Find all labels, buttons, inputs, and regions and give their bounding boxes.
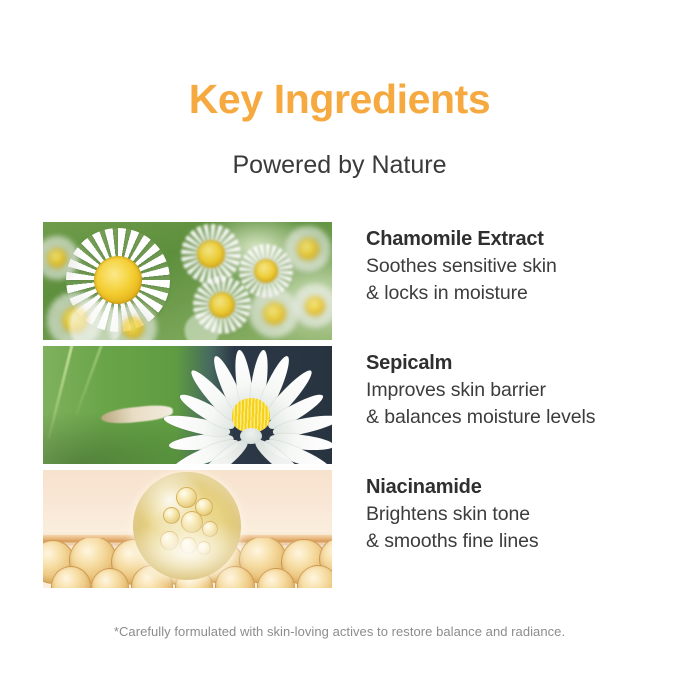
ingredient-copy: Chamomile Extract Soothes sensitive skin… [366, 226, 646, 307]
page-subtitle: Powered by Nature [0, 152, 679, 180]
ingredient-name: Sepicalm [366, 350, 646, 377]
ingredient-copy: Sepicalm Improves skin barrier & balance… [366, 350, 646, 431]
water-lily-photo [43, 346, 332, 464]
ingredient-benefit-line-2: & balances moisture levels [366, 404, 646, 431]
list-item: Sepicalm Improves skin barrier & balance… [43, 346, 637, 464]
ingredient-benefit-line-1: Brightens skin tone [366, 501, 646, 528]
footer-disclaimer: *Carefully formulated with skin-loving a… [0, 624, 679, 639]
ingredient-benefit-line-2: & smooths fine lines [366, 528, 646, 555]
ingredient-name: Niacinamide [366, 474, 646, 501]
key-ingredients-infographic: Key Ingredients Powered by Nature [0, 0, 679, 679]
ingredient-benefit-line-1: Soothes sensitive skin [366, 253, 646, 280]
page-title: Key Ingredients [0, 78, 679, 121]
list-item: Niacinamide Brightens skin tone & smooth… [43, 470, 637, 588]
ingredient-copy: Niacinamide Brightens skin tone & smooth… [366, 474, 646, 555]
ingredient-benefit-line-1: Improves skin barrier [366, 377, 646, 404]
ingredient-benefit-line-2: & locks in moisture [366, 280, 646, 307]
ingredient-list: Chamomile Extract Soothes sensitive skin… [43, 222, 637, 594]
serum-droplet-cells-photo [43, 470, 332, 588]
chamomile-daisies-photo [43, 222, 332, 340]
ingredient-name: Chamomile Extract [366, 226, 646, 253]
list-item: Chamomile Extract Soothes sensitive skin… [43, 222, 637, 340]
